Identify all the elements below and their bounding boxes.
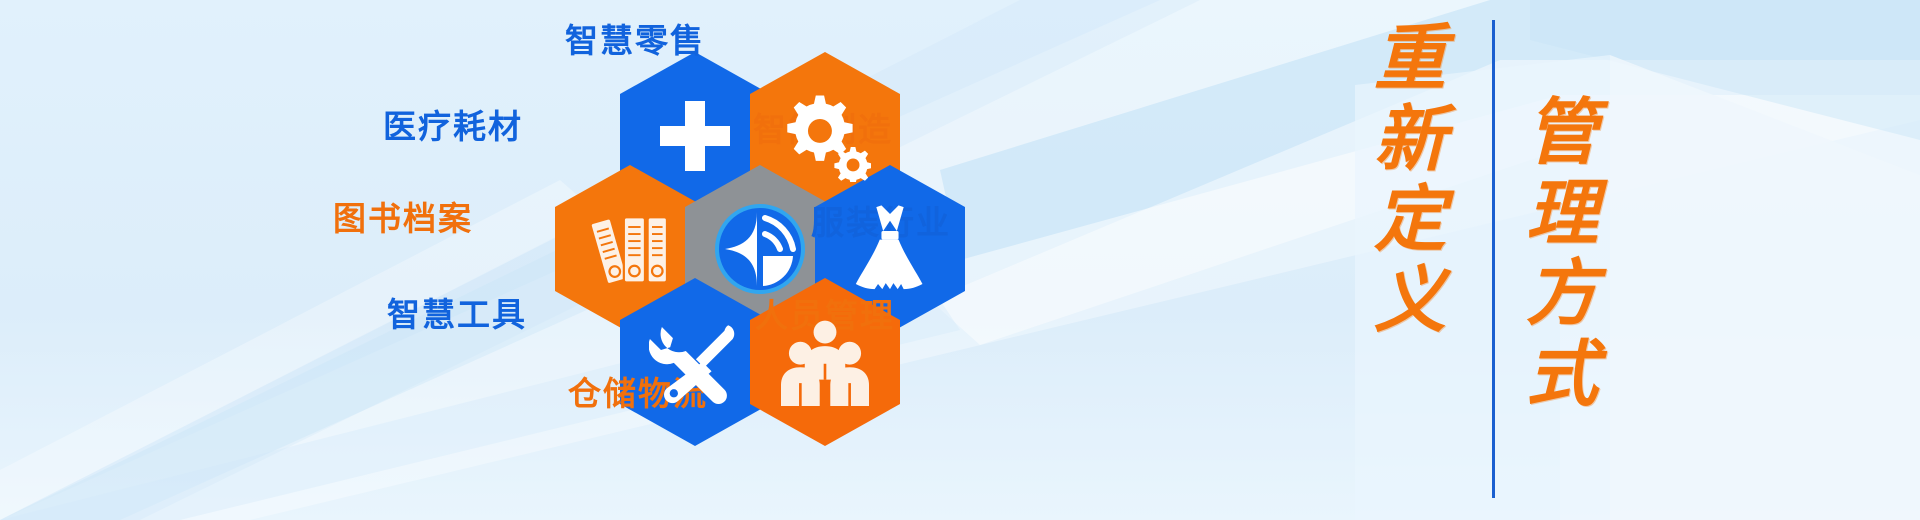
slogan-char: 重 <box>1374 18 1446 99</box>
slogan-char: 方 <box>1526 253 1598 334</box>
wrench-screwdriver-icon <box>649 316 741 408</box>
slogan-char: 定 <box>1374 179 1446 260</box>
slogan-column-left: 重 新 定 义 <box>1355 0 1465 520</box>
people-group-icon <box>779 318 871 406</box>
medical-cross-icon <box>656 97 734 175</box>
slogan-char: 理 <box>1526 173 1598 254</box>
slogan-char: 义 <box>1374 260 1446 341</box>
promo-banner: 智慧零售 医疗耗材 智能制造 图书档案 服装行业 智慧工具 人员管理 仓储物流 … <box>0 0 1920 520</box>
slogan-divider <box>1492 20 1495 498</box>
slogan-char: 新 <box>1374 99 1446 180</box>
slogan-column-right: 管 理 方 式 <box>1507 0 1617 520</box>
binders-icon <box>586 205 674 293</box>
slogan-char: 式 <box>1526 334 1598 415</box>
label-tools: 智慧工具 <box>387 288 527 336</box>
slogan-block: 重 新 定 义 管 理 方 式 <box>1355 0 1615 520</box>
dress-icon <box>847 202 933 296</box>
gears-icon <box>779 90 871 182</box>
rfid-signal-icon <box>705 194 815 304</box>
label-retail: 智慧零售 <box>565 14 705 62</box>
label-books: 图书档案 <box>333 192 473 240</box>
slogan-char: 管 <box>1526 92 1598 173</box>
label-medical: 医疗耗材 <box>383 100 523 148</box>
